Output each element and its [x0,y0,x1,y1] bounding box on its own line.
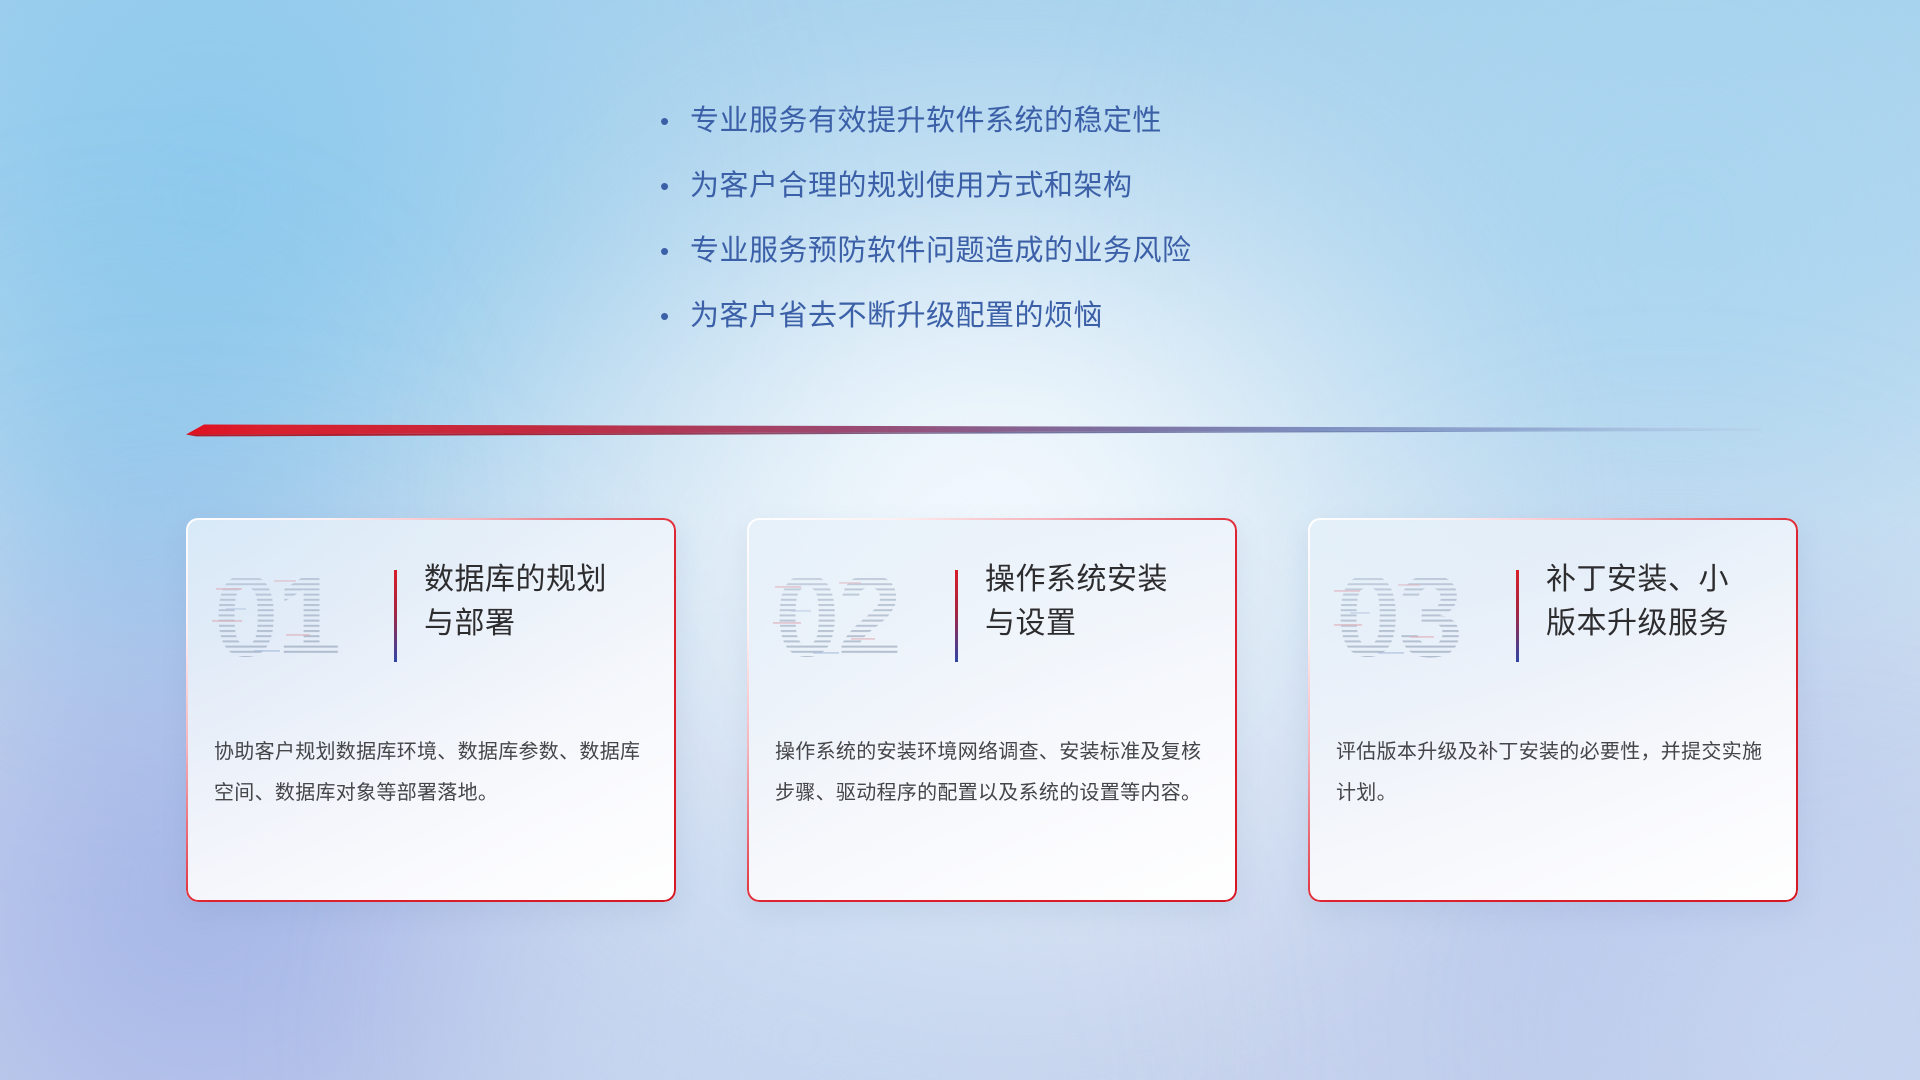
striped-number-glyph: 01 [212,552,362,680]
bullet-dot-icon: • [660,299,690,333]
card-header: 01 数据库的规划 与部署 [186,552,676,680]
card-title-line: 操作系统安装 [985,558,1223,602]
service-card[interactable]: 01 数据库的规划 与部署 协助客户规划数据库环境、数据库参数、数据库空间、数据… [186,518,676,902]
card-header: 03 补丁安装、小 版本升级服务 [1308,552,1798,680]
service-card[interactable]: 03 补丁安装、小 版本升级服务 评估版本升级及补丁安装的必要性，并提交实施计划… [1308,518,1798,902]
list-item: • 为客户省去不断升级配置的烦恼 [660,299,1420,364]
card-title: 补丁安装、小 版本升级服务 [1546,558,1784,646]
list-item-label: 专业服务预防软件问题造成的业务风险 [690,234,1192,268]
tapered-rule-svg [186,418,1761,444]
card-title-line: 与部署 [424,602,662,646]
list-item: • 专业服务有效提升软件系统的稳定性 [660,104,1420,169]
card-title-line: 版本升级服务 [1546,602,1784,646]
bullet-dot-icon: • [660,104,690,138]
card-title-line: 与设置 [985,602,1223,646]
benefits-bullet-list: • 专业服务有效提升软件系统的稳定性 • 为客户合理的规划使用方式和架构 • 专… [660,104,1420,364]
card-description: 评估版本升级及补丁安装的必要性，并提交实施计划。 [1336,732,1766,814]
card-accent-bar [394,570,397,662]
service-card[interactable]: 02 操作系统安装 与设置 操作系统的安装环境网络调查、安装标准及复核步骤、驱动… [747,518,1237,902]
card-title: 操作系统安装 与设置 [985,558,1223,646]
list-item-label: 专业服务有效提升软件系统的稳定性 [690,104,1162,138]
striped-number-glyph: 03 [1334,552,1484,680]
svg-text:01: 01 [214,552,339,680]
card-number-03: 03 [1334,552,1484,680]
bullet-dot-icon: • [660,234,690,268]
card-title-line: 数据库的规划 [424,558,662,602]
list-item: • 为客户合理的规划使用方式和架构 [660,169,1420,234]
list-item-label: 为客户省去不断升级配置的烦恼 [690,299,1103,333]
card-number-02: 02 [773,552,923,680]
svg-text:02: 02 [775,552,900,680]
card-title-line: 补丁安装、小 [1546,558,1784,602]
tapered-accent-rule [186,418,1761,444]
card-accent-bar [955,570,958,662]
card-header: 02 操作系统安装 与设置 [747,552,1237,680]
list-item: • 专业服务预防软件问题造成的业务风险 [660,234,1420,299]
service-card-row: 01 数据库的规划 与部署 协助客户规划数据库环境、数据库参数、数据库空间、数据… [186,518,1766,920]
card-description: 操作系统的安装环境网络调查、安装标准及复核步骤、驱动程序的配置以及系统的设置等内… [775,732,1205,814]
svg-text:03: 03 [1336,552,1461,680]
card-number-01: 01 [212,552,362,680]
card-description: 协助客户规划数据库环境、数据库参数、数据库空间、数据库对象等部署落地。 [214,732,644,814]
card-accent-bar [1516,570,1519,662]
list-item-label: 为客户合理的规划使用方式和架构 [690,169,1133,203]
card-title: 数据库的规划 与部署 [424,558,662,646]
bullet-dot-icon: • [660,169,690,203]
striped-number-glyph: 02 [773,552,923,680]
